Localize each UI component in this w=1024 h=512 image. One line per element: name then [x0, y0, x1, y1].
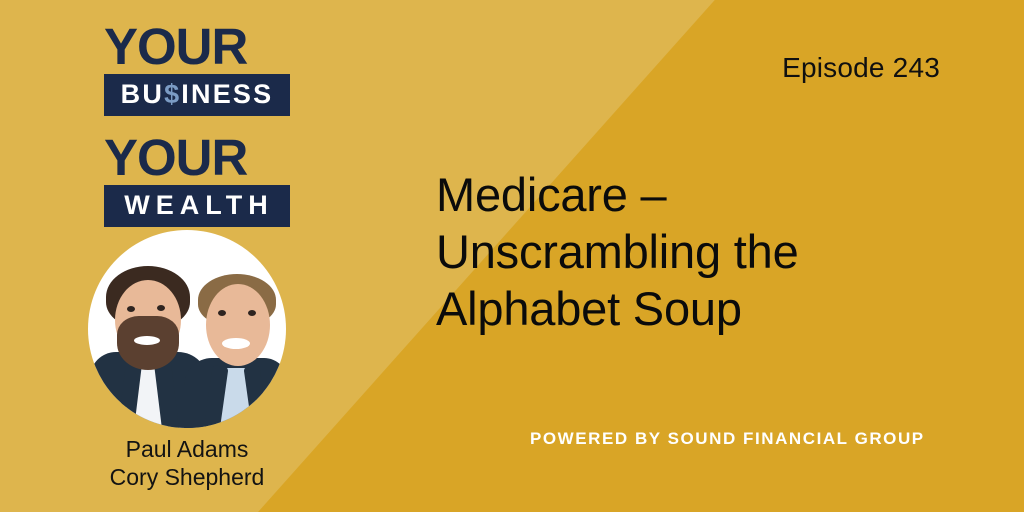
logo-word-your-bottom: YOUR	[104, 133, 290, 183]
episode-title-line-1: Medicare –	[436, 166, 916, 223]
powered-by-footer: POWERED BY SOUND FINANCIAL GROUP	[530, 429, 925, 449]
hosts-photo	[88, 230, 286, 428]
episode-title-line-2: Unscrambling the	[436, 223, 916, 280]
episode-title: Medicare – Unscrambling the Alphabet Sou…	[436, 166, 916, 337]
right-host-eye-left	[218, 310, 226, 316]
right-host-smile	[222, 338, 250, 349]
logo-bar-wealth: WEALTH	[104, 185, 290, 227]
left-host-eye-left	[127, 306, 135, 312]
host-name-cory-shepherd: Cory Shepherd	[38, 464, 336, 492]
logo-text-bu: BU	[121, 79, 164, 109]
host-name-paul-adams: Paul Adams	[38, 436, 336, 464]
logo-block-your-wealth: YOUR WEALTH	[104, 133, 290, 227]
right-host-face	[206, 284, 270, 366]
logo-block-your-business: YOUR BU$INESS	[104, 22, 290, 116]
logo-text-iness: INESS	[181, 79, 273, 109]
dollar-sign-icon: $	[164, 79, 181, 109]
logo-bar-business: BU$INESS	[104, 74, 290, 116]
episode-label: Episode 243	[782, 52, 940, 84]
brand-logo: YOUR BU$INESS YOUR WEALTH	[104, 22, 290, 227]
left-host-eye-right	[157, 305, 165, 311]
right-host-eye-right	[248, 310, 256, 316]
hosts-names: Paul Adams Cory Shepherd	[38, 436, 336, 492]
podcast-episode-card: YOUR BU$INESS YOUR WEALTH Paul Adams	[0, 0, 1024, 512]
left-host-smile	[134, 336, 160, 345]
episode-title-line-3: Alphabet Soup	[436, 280, 916, 337]
logo-word-your-top: YOUR	[104, 22, 290, 72]
